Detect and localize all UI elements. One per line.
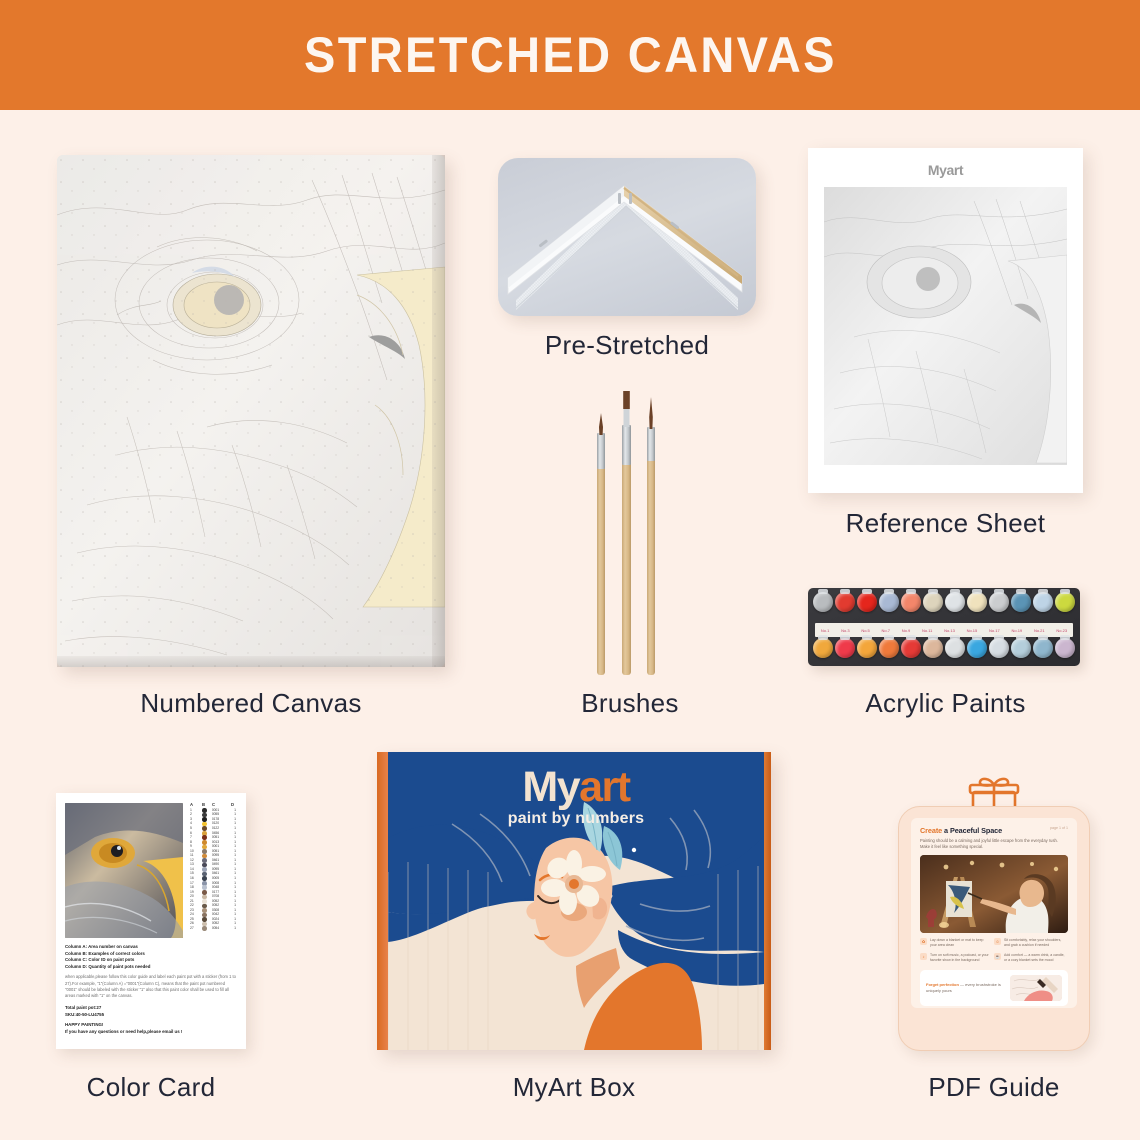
legend-line-a: Column A: Area number on canvas xyxy=(65,944,237,951)
paint-pot-row-top xyxy=(813,592,1075,622)
cell-qty: 1 xyxy=(231,877,236,880)
painting-hand-photo xyxy=(1010,975,1062,1001)
cell-swatch xyxy=(202,926,207,931)
color-card-fine-print: when applicable,please follow this color… xyxy=(65,974,237,999)
paint-pot-label: No.23 xyxy=(1056,628,1067,633)
caption-pdf-guide: PDF Guide xyxy=(898,1072,1090,1103)
caption-myart-box: MyArt Box xyxy=(377,1072,771,1103)
logo-art: art xyxy=(579,763,629,811)
table-header: C xyxy=(212,803,226,807)
paint-pot-label: No.5 xyxy=(861,628,869,633)
paint-pot-label: No.7 xyxy=(882,628,890,633)
happy-painting-text: HAPPY PAINTING! xyxy=(65,1022,237,1029)
pdf-title-accent: Create xyxy=(920,826,942,835)
brush-tip-icon xyxy=(648,397,654,429)
brushes-image xyxy=(580,385,680,675)
paint-pot-label: No.15 xyxy=(967,628,978,633)
pdf-note-image xyxy=(1010,975,1062,1001)
eagle-color-photo xyxy=(65,803,183,938)
pre-stretched-image xyxy=(498,158,756,316)
cell-swatch xyxy=(202,890,207,895)
paint-pot xyxy=(989,638,1009,658)
paint-pot xyxy=(1055,638,1075,658)
cell-color-id: 0051 xyxy=(212,836,226,839)
cell-qty: 1 xyxy=(231,827,236,830)
paint-pot-label: No.11 xyxy=(922,628,932,633)
eagle-outline-art xyxy=(57,155,445,667)
legend-line-b: Column B: Examples of correct colors xyxy=(65,951,237,958)
cell-qty: 1 xyxy=(231,836,236,839)
pdf-tip-item: ✿ Lay down a blanket or mat to keep your… xyxy=(920,938,994,948)
cell-color-id: 0005 xyxy=(212,877,226,880)
pdf-photo xyxy=(920,855,1068,933)
pdf-page-content: page 1 of 1 Create a Peaceful Space Pain… xyxy=(911,818,1077,1008)
eagle-grayscale-art xyxy=(824,187,1067,465)
caption-reference-sheet: Reference Sheet xyxy=(808,508,1083,539)
myart-box-image: Myart paint by numbers xyxy=(377,752,771,1050)
paint-pot xyxy=(879,592,899,612)
tip-icon: ♪ xyxy=(920,953,927,960)
pdf-tip-text: Lay down a blanket or mat to keep your a… xyxy=(930,938,991,948)
caption-acrylic-paints: Acrylic Paints xyxy=(808,688,1083,719)
paint-pot xyxy=(1033,638,1053,658)
numbered-canvas-image xyxy=(57,155,445,667)
paint-pot xyxy=(945,638,965,658)
caption-brushes: Brushes xyxy=(530,688,730,719)
caption-color-card: Color Card xyxy=(36,1072,266,1103)
paint-pot xyxy=(1033,592,1053,612)
pdf-page-label: page 1 of 1 xyxy=(1050,826,1068,830)
brush-round-pointed xyxy=(647,398,655,675)
paint-pot-label: No.9 xyxy=(902,628,910,633)
cell-swatch xyxy=(202,840,207,845)
paint-pot xyxy=(813,592,833,612)
paint-pot-label: No.3 xyxy=(841,628,849,633)
contact-text: If you have any questions or need help,p… xyxy=(65,1029,237,1036)
acrylic-paints-image: No.1No.3No.5No.7No.9No.11No.13No.15No.17… xyxy=(808,588,1080,666)
pdf-tip-text: Turn on soft music, a podcast, or your f… xyxy=(930,953,991,963)
pdf-note-text: Forget perfection — every brushstroke is… xyxy=(926,982,1005,994)
table-row: 2700541 xyxy=(189,926,237,931)
paint-pot-label: No.21 xyxy=(1034,628,1045,633)
paint-pot xyxy=(923,592,943,612)
table-header: B xyxy=(202,803,207,807)
paint-pot xyxy=(857,592,877,612)
cell-area: 18 xyxy=(190,886,197,889)
canvas-frame-corner-photo xyxy=(498,158,756,316)
paint-pot xyxy=(945,592,965,612)
logo-my: My xyxy=(522,763,579,811)
paint-pot xyxy=(857,638,877,658)
paint-pot-row-bottom xyxy=(813,638,1075,668)
pdf-title-rest: a Peaceful Space xyxy=(942,826,1002,835)
product-infographic: STRETCHED CANVAS xyxy=(0,0,1140,1140)
page-title: STRETCHED CANVAS xyxy=(304,26,837,84)
pdf-tip-text: Sit comfortably, relax your shoulders, a… xyxy=(1004,938,1065,948)
woman-painting-photo xyxy=(920,855,1068,933)
sku-text: SKU:40-50-LU4755 xyxy=(65,1012,237,1019)
paint-pot xyxy=(901,638,921,658)
paint-pot-label: No.13 xyxy=(944,628,955,633)
pdf-tips-list: ✿ Lay down a blanket or mat to keep your… xyxy=(920,938,1068,968)
paint-pot xyxy=(967,638,987,658)
total-paint-pot: Total paint pot:27 xyxy=(65,1005,237,1012)
pdf-note-box: Forget perfection — every brushstroke is… xyxy=(920,970,1068,1006)
color-card-image: ABCD 10001120055130178140120150122160456… xyxy=(56,793,246,1049)
tip-icon: ☺ xyxy=(994,938,1001,945)
color-card-photo xyxy=(65,803,183,938)
reference-sheet-image: Myart xyxy=(808,148,1083,493)
header-banner: STRETCHED CANVAS xyxy=(0,0,1140,110)
paint-pot xyxy=(967,592,987,612)
cell-area: 27 xyxy=(190,927,197,930)
paint-pot xyxy=(879,638,899,658)
cell-area: 5 xyxy=(190,827,197,830)
pdf-guide-image: page 1 of 1 Create a Peaceful Space Pain… xyxy=(898,776,1090,1051)
cell-color-id: 0054 xyxy=(212,927,226,930)
pdf-subtitle: Painting should be a calming and joyful … xyxy=(920,838,1068,850)
paint-pot xyxy=(835,638,855,658)
table-header: D xyxy=(231,803,236,807)
caption-pre-stretched: Pre-Stretched xyxy=(498,330,756,361)
box-spine-left xyxy=(377,752,388,1050)
color-card-legend-text: Column A: Area number on canvas Column B… xyxy=(65,944,237,970)
tip-icon: ☕ xyxy=(994,953,1001,960)
pdf-title: Create a Peaceful Space xyxy=(920,826,1068,835)
pdf-tip-item: ☕ Add comfort — a warm drink, a candle, … xyxy=(994,953,1068,963)
reference-sheet-logo: Myart xyxy=(824,162,1067,178)
brush-tip-icon xyxy=(622,391,631,427)
paint-pot xyxy=(813,638,833,658)
myart-logo: Myart xyxy=(388,766,764,809)
legend-line-d: Column D: Quantity of paint pots needed xyxy=(65,964,237,971)
note-accent: Forget perfection xyxy=(926,982,959,987)
cell-qty: 1 xyxy=(231,927,236,930)
paint-label-strip-top: No.1No.3No.5No.7No.9No.11No.13No.15No.17… xyxy=(815,623,1073,637)
paint-pot-label: No.19 xyxy=(1011,628,1022,633)
paint-pot xyxy=(923,638,943,658)
paint-pot xyxy=(901,592,921,612)
paint-pot-label: No.17 xyxy=(989,628,1000,633)
box-spine-right xyxy=(764,752,771,1050)
paint-pot xyxy=(1055,592,1075,612)
table-header: A xyxy=(190,803,197,807)
legend-line-c: Column C: Color ID on paint pots xyxy=(65,957,237,964)
paint-pot xyxy=(835,592,855,612)
cell-area: 7 xyxy=(190,836,197,839)
cell-area: 16 xyxy=(190,877,197,880)
tip-icon: ✿ xyxy=(920,938,927,945)
caption-numbered-canvas: Numbered Canvas xyxy=(57,688,445,719)
cell-qty: 1 xyxy=(231,886,236,889)
paint-pot xyxy=(1011,638,1031,658)
color-legend-table: ABCD 10001120055130178140120150122160456… xyxy=(189,803,237,938)
brush-tip-icon xyxy=(598,413,604,435)
pdf-tip-item: ♪ Turn on soft music, a podcast, or your… xyxy=(920,953,994,963)
brush-flat xyxy=(622,391,631,675)
paint-pot xyxy=(989,592,1009,612)
pdf-tip-item: ☺ Sit comfortably, relax your shoulders,… xyxy=(994,938,1068,948)
paint-pot-label: No.1 xyxy=(821,628,829,633)
box-subtitle: paint by numbers xyxy=(388,810,764,828)
brush-small-round xyxy=(597,421,605,675)
cell-color-id: 0048 xyxy=(212,886,226,889)
pdf-tip-text: Add comfort — a warm drink, a candle, or… xyxy=(1004,953,1065,963)
paint-pot xyxy=(1011,592,1031,612)
cell-color-id: 0122 xyxy=(212,827,226,830)
